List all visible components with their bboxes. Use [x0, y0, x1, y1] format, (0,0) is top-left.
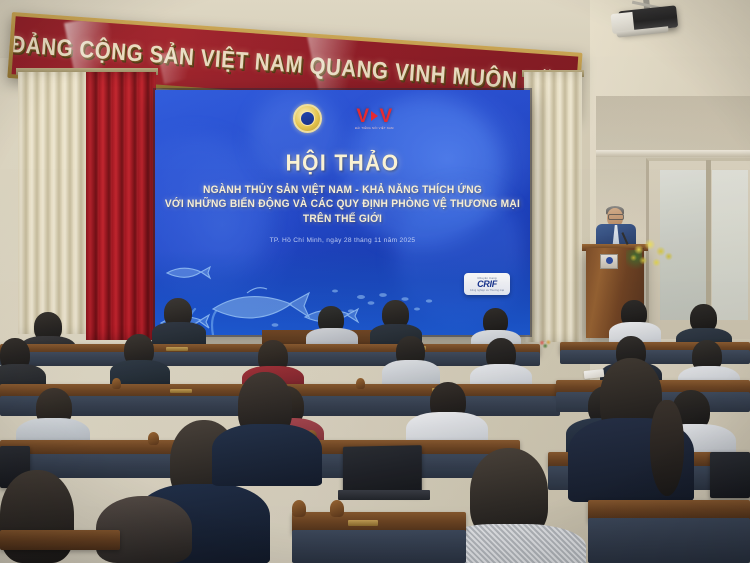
red-curtain: [86, 72, 156, 340]
bench-pad-foreground: [292, 530, 466, 563]
slide-subtitle-line-3: TRÊN THẾ GIỚI: [155, 213, 530, 228]
crif-badge: Chuyên trang CRIF Công nghiệp và Thương …: [464, 273, 510, 295]
vov-play-triangle-icon: [371, 111, 378, 121]
bench-row-foreground-left: [0, 530, 120, 550]
speaker-glasses-icon: [608, 214, 624, 220]
bench-knob: [330, 500, 344, 517]
podium-emblem: [600, 254, 618, 269]
conference-hall-photo: ĐẢNG CỘNG SẢN VIỆT NAM QUANG VINH MUÔN N…: [0, 0, 750, 563]
laptop-keyboard: [338, 490, 430, 500]
bench-knob: [356, 378, 365, 389]
vov-mark: VV: [356, 107, 391, 126]
podium-flowers: [630, 236, 674, 270]
slide-subtitle-line-2: VỚI NHỮNG BIẾN ĐỘNG VÀ CÁC QUY ĐỊNH PHÒN…: [155, 198, 530, 213]
bench-plate: [166, 347, 188, 351]
slide-date-line: TP. Hồ Chí Minh, ngày 28 tháng 11 năm 20…: [155, 237, 530, 244]
bench-knob: [112, 378, 121, 389]
laptop-screen: [710, 452, 750, 498]
bench-knob: [148, 432, 159, 445]
projection-screen: VV ĐÀI TIẾNG NÓI VIỆT NAM HỘI THẢO NGÀNH…: [155, 90, 530, 335]
bench-plate: [170, 389, 192, 393]
slide-logo-row: VV ĐÀI TIẾNG NÓI VIỆT NAM: [155, 104, 530, 133]
slide-heading: HỘI THẢO: [155, 151, 530, 177]
laptop-screen: [343, 445, 422, 495]
vasep-emblem-icon: [293, 104, 322, 133]
audience-ponytail: [650, 400, 684, 496]
door-glass-panel-right: [712, 170, 748, 320]
crif-badge-bottom-text: Công nghiệp và Thương mại: [470, 289, 504, 292]
vov-logo-icon: VV ĐÀI TIẾNG NÓI VIỆT NAM: [356, 107, 393, 131]
cream-curtain-right: [524, 72, 582, 342]
bench-pad-foreground-right: [588, 518, 750, 563]
wall-ledge: [596, 150, 750, 157]
bench-plate: [348, 520, 378, 526]
banner-glare-3: [158, 46, 203, 84]
vov-subtitle: ĐÀI TIẾNG NÓI VIỆT NAM: [355, 128, 394, 131]
bench-knob: [292, 500, 306, 517]
audience-shoulders-foreground: [212, 424, 322, 486]
crif-badge-main-text: CRIF: [477, 280, 497, 289]
slide-subtitle: NGÀNH THỦY SẢN VIỆT NAM - KHẢ NĂNG THÍCH…: [155, 184, 530, 227]
cream-curtain-left: [18, 72, 86, 334]
